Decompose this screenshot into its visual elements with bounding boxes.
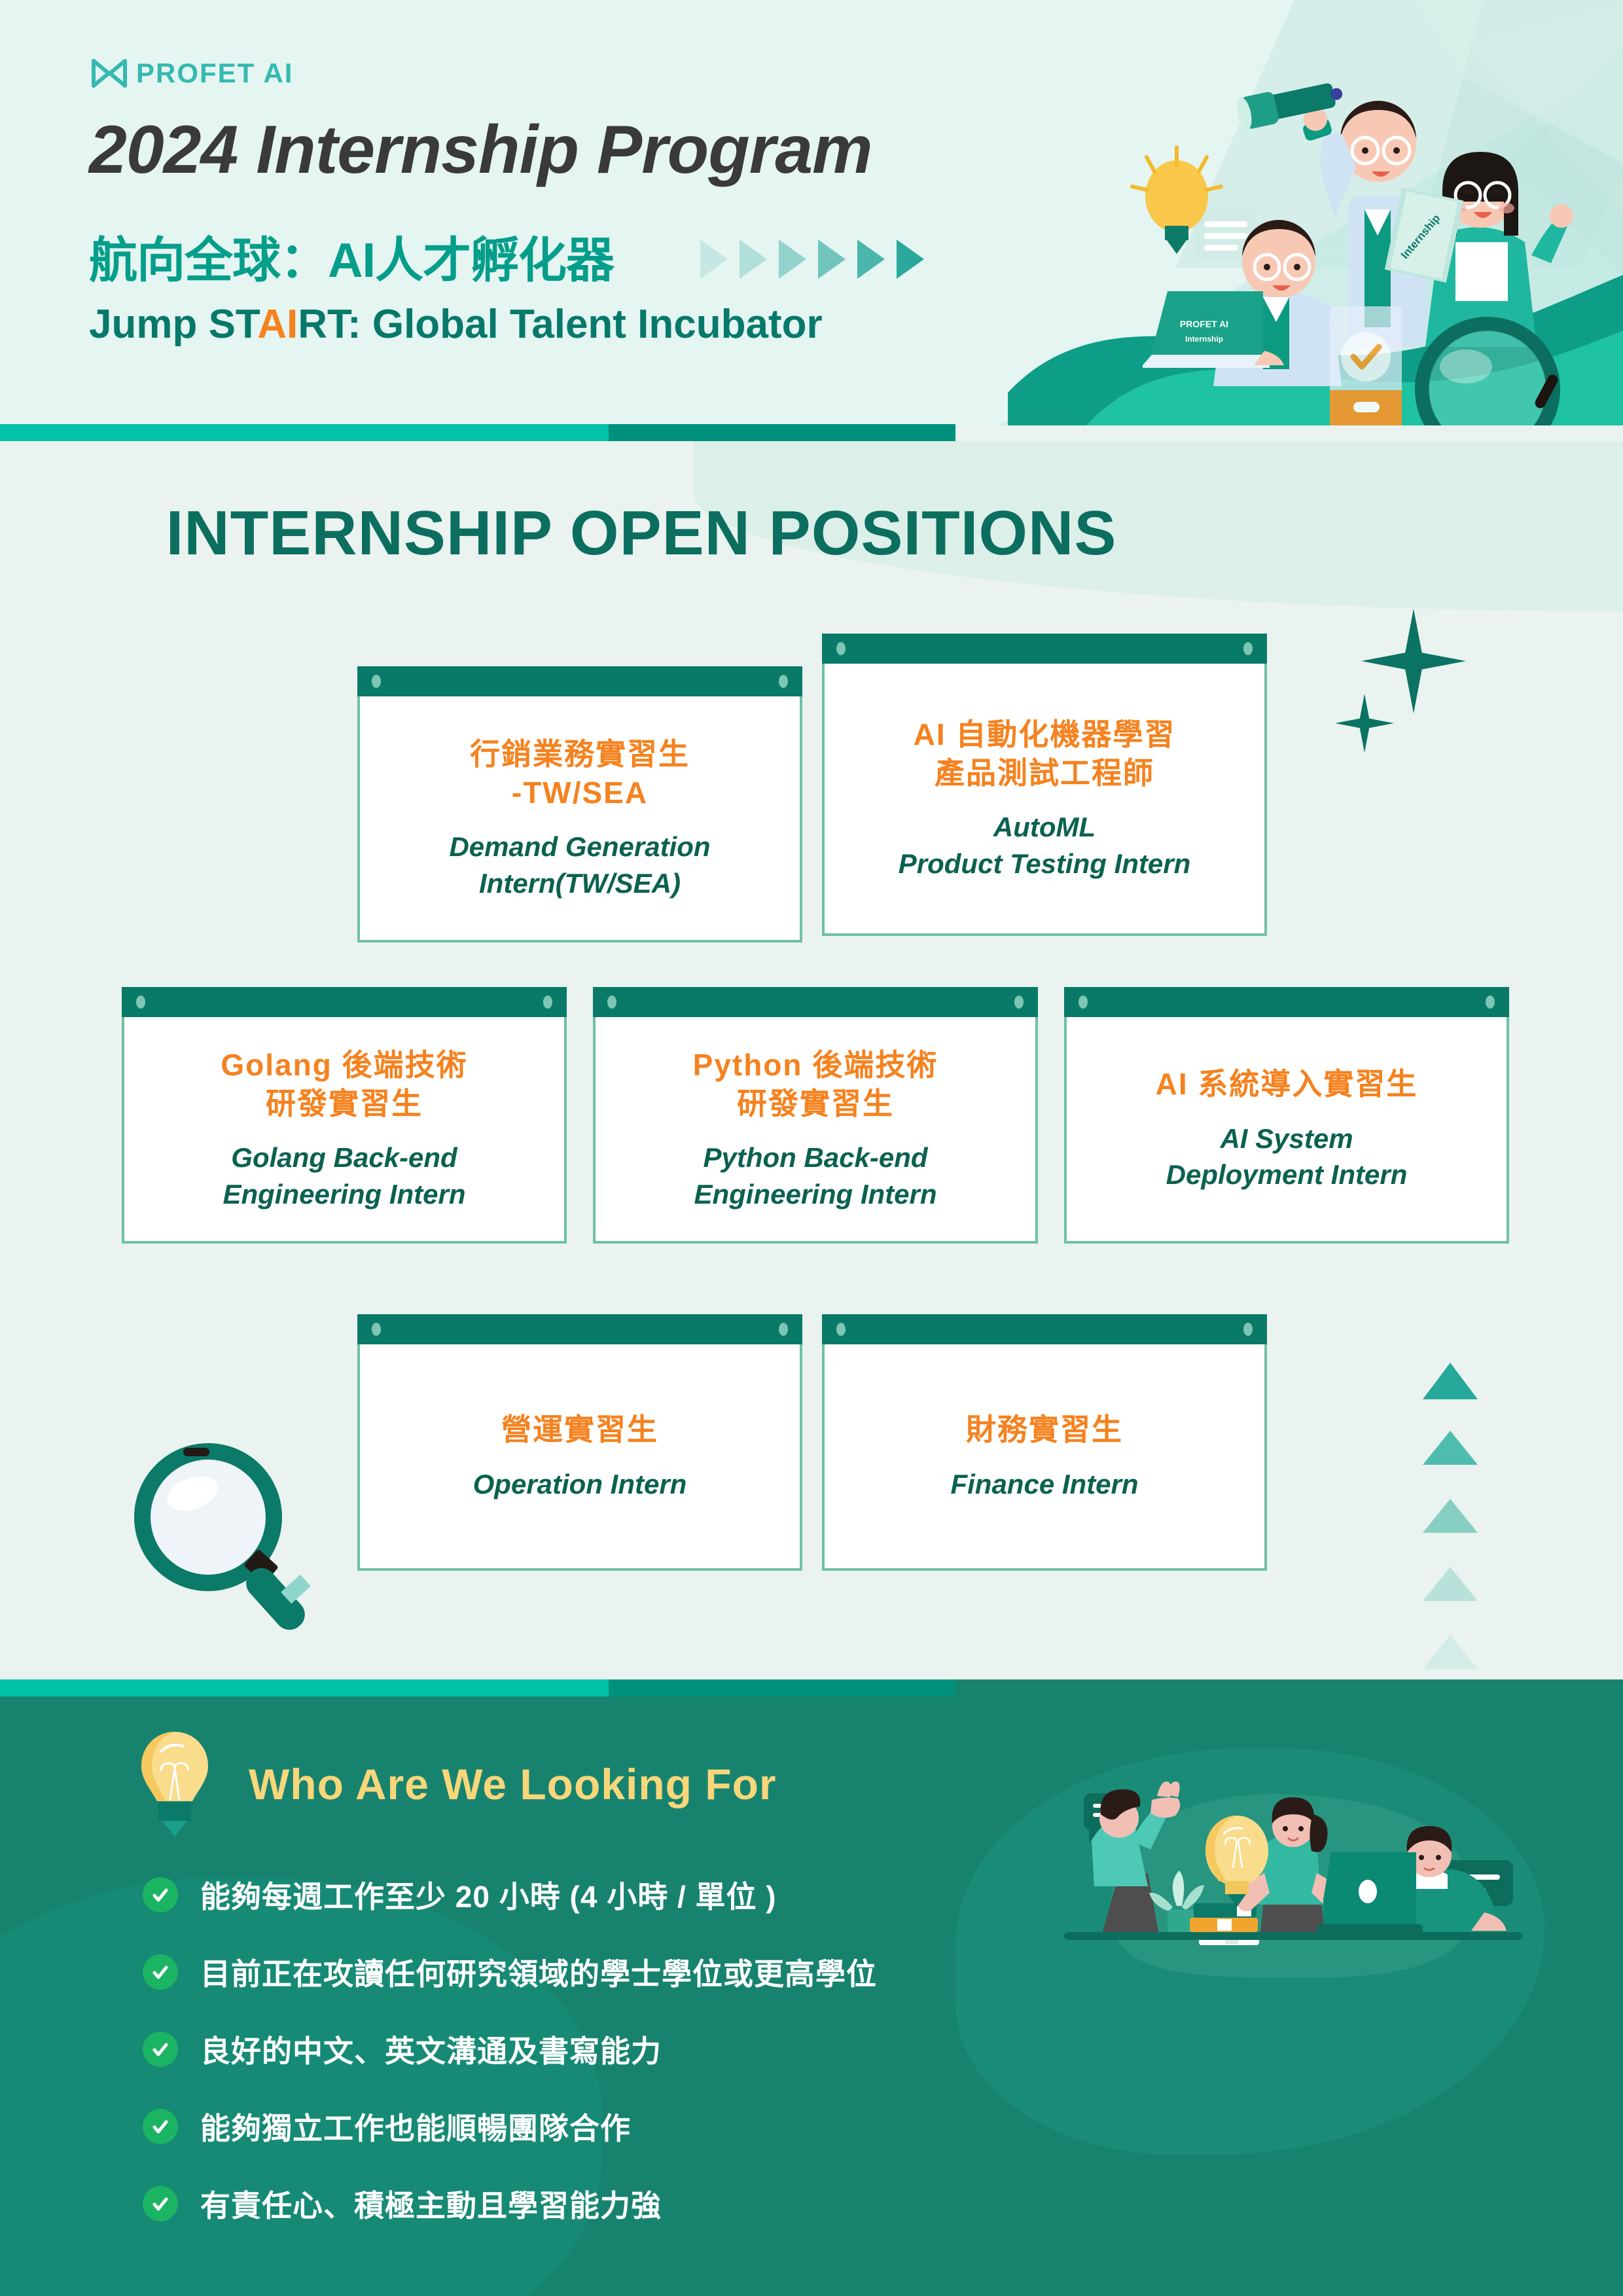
positions-section-title: INTERNSHIP OPEN POSITIONS	[0, 497, 1283, 569]
card-header-bar	[357, 1314, 802, 1344]
list-item-label: 能夠獨立工作也能順暢團隊合作	[200, 2105, 631, 2148]
check-circle-icon	[143, 1954, 178, 1990]
card-title-chinese: AI 自動化機器學習產品測試工程師	[914, 715, 1176, 793]
triangle-up-icon-4	[1423, 1567, 1478, 1601]
brand-logo: PROFET AI	[92, 58, 293, 89]
divider-segment-dark	[609, 424, 955, 441]
divider-segment-empty	[955, 424, 1623, 441]
triangle-up-icon-5	[1423, 1635, 1478, 1669]
list-item: 能夠獨立工作也能順暢團隊合作	[143, 2105, 1059, 2148]
requirements-list: 能夠每週工作至少 20 小時 (4 小時 / 單位 ) 目前正在攻讀任何研究領域…	[143, 1873, 1059, 2259]
page-title: 2024 Internship Program	[89, 111, 872, 189]
subtitle-english-highlight: AI	[257, 302, 298, 347]
bowtie-mark-icon	[92, 58, 127, 88]
card-header-bar	[822, 634, 1267, 664]
lightbulb-icon	[136, 1728, 213, 1838]
card-header-bar	[1064, 987, 1509, 1017]
list-item: 能夠每週工作至少 20 小時 (4 小時 / 單位 )	[143, 1873, 1059, 1916]
subtitle-english-post: RT: Global Talent Incubator	[298, 302, 822, 347]
list-item-label: 能夠每週工作至少 20 小時 (4 小時 / 單位 )	[200, 1873, 777, 1916]
card-title-english: Operation Intern	[473, 1466, 687, 1502]
check-circle-icon	[143, 2186, 178, 2221]
list-item-label: 有責任心、積極主動且學習能力強	[200, 2182, 662, 2225]
position-card[interactable]: AI 自動化機器學習產品測試工程師 AutoMLProduct Testing …	[822, 661, 1267, 936]
card-dot-left-icon	[136, 996, 145, 1009]
card-title-english: AutoMLProduct Testing Intern	[899, 809, 1190, 882]
card-dot-left-icon	[372, 1323, 381, 1336]
card-header-bar	[593, 987, 1038, 1017]
requirements-section: Who Are We Looking For 能夠每週工作至少 20 小時 (4…	[0, 1696, 1623, 2296]
card-title-chinese: Golang 後端技術研發實習生	[221, 1046, 467, 1123]
list-item-label: 良好的中文、英文溝通及書寫能力	[200, 2028, 662, 2071]
card-dot-right-icon	[1486, 996, 1495, 1009]
card-title-english: Finance Intern	[950, 1466, 1138, 1502]
card-dot-right-icon	[543, 996, 552, 1009]
card-header-bar	[357, 666, 802, 696]
laptop-logo-text: PROFET AI	[1180, 319, 1228, 329]
subtitle-english: Jump STAIRT: Global Talent Incubator	[89, 301, 823, 348]
arrow-right-icon-5	[857, 240, 885, 279]
requirements-title: Who Are We Looking For	[249, 1759, 777, 1809]
subtitle-english-pre: Jump ST	[89, 302, 257, 347]
arrow-right-icon-2	[740, 240, 767, 279]
triangle-up-icon-1	[1423, 1363, 1478, 1399]
brand-logo-text: PROFET AI	[136, 58, 293, 89]
magnifying-glass-icon	[111, 1433, 347, 1649]
card-dot-right-icon	[779, 1323, 788, 1336]
card-dot-right-icon	[779, 675, 788, 688]
card-title-english: AI SystemDeployment Intern	[1166, 1121, 1408, 1193]
card-title-chinese: 營運實習生	[501, 1410, 658, 1449]
arrow-right-icon-3	[779, 240, 806, 279]
divider-segment-fill	[955, 1679, 1623, 1696]
list-item: 良好的中文、英文溝通及書寫能力	[143, 2028, 1059, 2071]
list-item: 目前正在攻讀任何研究領域的學士學位或更高學位	[143, 1950, 1059, 1994]
list-item-label: 目前正在攻讀任何研究領域的學士學位或更高學位	[200, 1950, 877, 1994]
arrow-right-icon-1	[700, 240, 728, 279]
header-section: Internship PROFET AI Internship	[0, 0, 1623, 425]
divider-bar-bottom	[0, 1679, 1623, 1696]
card-dot-left-icon	[372, 675, 381, 688]
card-dot-left-icon	[1079, 996, 1088, 1009]
check-circle-icon	[143, 2109, 178, 2144]
card-dot-right-icon	[1243, 642, 1253, 655]
card-header-bar	[822, 1314, 1267, 1344]
arrow-right-icon-6	[897, 240, 924, 279]
divider-segment-dark	[609, 1679, 955, 1696]
divider-segment-bright	[0, 1679, 609, 1696]
card-title-english: Demand GenerationIntern(TW/SEA)	[449, 829, 710, 901]
laptop-caption-text: Internship	[1185, 334, 1223, 344]
position-card[interactable]: 營運實習生 Operation Intern	[357, 1342, 802, 1571]
internship-poster: Internship PROFET AI Internship	[0, 0, 1623, 2296]
subtitle-chinese: 航向全球：AI人才孵化器	[89, 221, 614, 291]
arrow-sequence-decoration	[700, 240, 924, 279]
triangle-up-icon-3	[1423, 1499, 1478, 1533]
card-title-chinese: Python 後端技術研發實習生	[693, 1046, 938, 1123]
card-title-english: Golang Back-endEngineering Intern	[223, 1139, 465, 1212]
position-card[interactable]: 行銷業務實習生-TW/SEA Demand GenerationIntern(T…	[357, 694, 802, 942]
check-circle-icon	[143, 1877, 178, 1912]
position-card[interactable]: 財務實習生 Finance Intern	[822, 1342, 1267, 1571]
card-dot-right-icon	[1014, 996, 1024, 1009]
divider-bar-top	[0, 424, 1623, 441]
arrow-right-icon-4	[818, 240, 846, 279]
card-header-bar	[122, 987, 567, 1017]
position-card[interactable]: Python 後端技術研發實習生 Python Back-endEngineer…	[593, 1014, 1038, 1244]
triangle-up-icon-2	[1423, 1431, 1478, 1465]
card-dot-left-icon	[607, 996, 616, 1009]
position-card[interactable]: Golang 後端技術研發實習生 Golang Back-endEngineer…	[122, 1014, 567, 1244]
card-dot-left-icon	[836, 1323, 846, 1336]
card-dot-left-icon	[836, 642, 846, 655]
check-circle-icon	[143, 2032, 178, 2067]
card-title-chinese: 財務實習生	[966, 1410, 1123, 1449]
card-title-chinese: 行銷業務實習生-TW/SEA	[470, 735, 690, 812]
header-illustration: Internship PROFET AI Internship	[1008, 0, 1623, 425]
position-card[interactable]: AI 系統導入實習生 AI SystemDeployment Intern	[1064, 1014, 1509, 1244]
card-title-chinese: AI 系統導入實習生	[1156, 1065, 1418, 1103]
card-title-english: Python Back-endEngineering Intern	[694, 1139, 936, 1212]
card-dot-right-icon	[1243, 1323, 1253, 1336]
list-item: 有責任心、積極主動且學習能力強	[143, 2182, 1059, 2225]
requirements-illustration	[1021, 1716, 1610, 2056]
divider-segment-bright	[0, 424, 609, 441]
